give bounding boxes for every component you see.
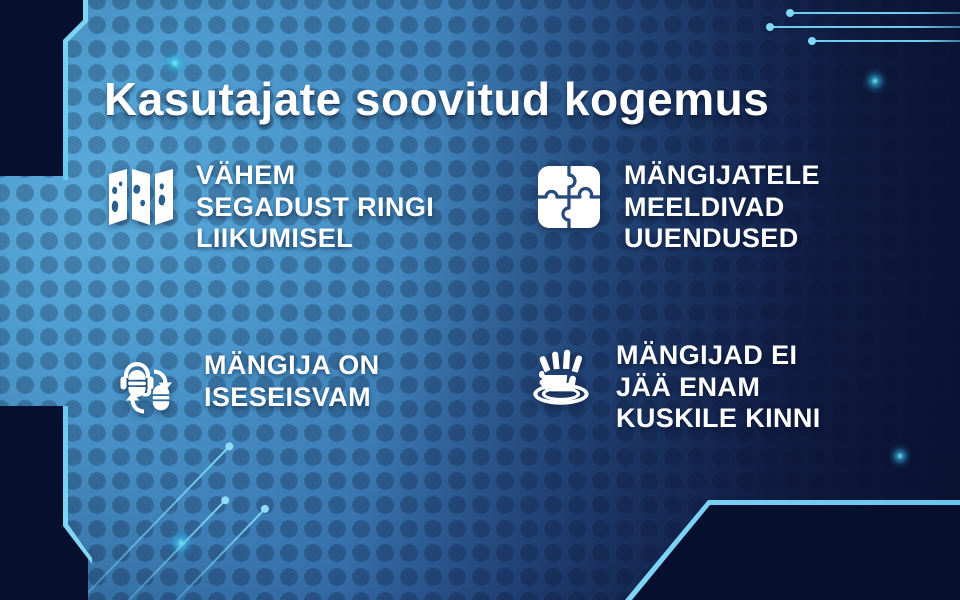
feature-label-line: ISESEISVAM — [204, 382, 380, 414]
feature-label-line: SEGADUST RINGI — [196, 192, 434, 224]
slide-canvas: Kasutajate soovitud kogemus — [0, 0, 960, 600]
feature-label-line: LIIKUMISEL — [196, 223, 434, 255]
feature-item-map: VÄHEM SEGADUST RINGI LIIKUMISEL — [104, 158, 504, 255]
feature-label-line: MÄNGIJA ON — [204, 350, 380, 382]
feature-label-line: UUENDUSED — [624, 223, 820, 255]
folded-map-icon — [104, 158, 178, 236]
support-agent-swap-icon — [112, 348, 186, 426]
feature-label-line: MEELDIVAD — [624, 192, 820, 224]
feature-item-updates: MÄNGIJATELE MEELDIVAD UUENDUSED — [532, 158, 912, 255]
feature-label-line: JÄÄ ENAM — [616, 372, 821, 404]
feature-label-line: VÄHEM — [196, 160, 434, 192]
page-title: Kasutajate soovitud kogemus — [104, 72, 769, 126]
feature-label-line: KUSKILE KINNI — [616, 403, 821, 435]
feature-label: MÄNGIJA ON ISESEISVAM — [204, 348, 380, 413]
slide-content: Kasutajate soovitud kogemus — [0, 0, 960, 600]
feature-label: VÄHEM SEGADUST RINGI LIIKUMISEL — [196, 158, 434, 255]
feature-label: MÄNGIJAD EI JÄÄ ENAM KUSKILE KINNI — [616, 338, 821, 435]
feature-label-line: MÄNGIJAD EI — [616, 340, 821, 372]
feature-item-self-service: MÄNGIJA ON ISESEISVAM — [112, 348, 512, 426]
feature-label-line: MÄNGIJATELE — [624, 160, 820, 192]
feature-item-not-stuck: MÄNGIJAD EI JÄÄ ENAM KUSKILE KINNI — [524, 338, 914, 435]
feature-label: MÄNGIJATELE MEELDIVAD UUENDUSED — [624, 158, 820, 255]
puzzle-pieces-icon — [532, 158, 606, 236]
hand-sinking-icon — [524, 338, 598, 416]
